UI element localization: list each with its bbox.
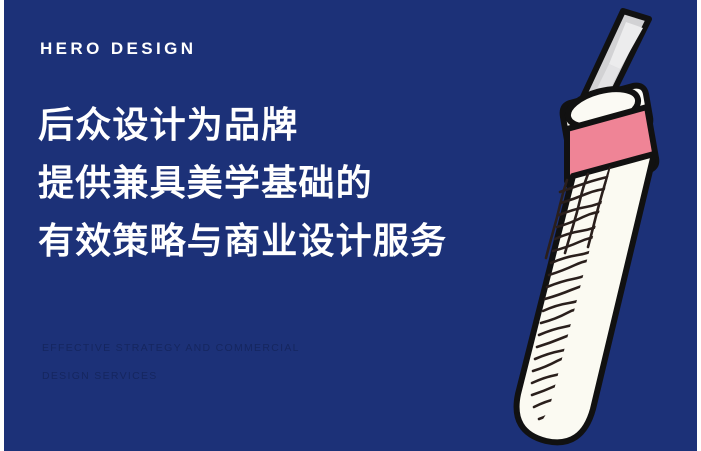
brand-wordmark: HERO DESIGN: [40, 40, 196, 57]
poster-canvas: HERO DESIGN 后众设计为品牌 提供兼具美学基础的 有效策略与商业设计服…: [0, 0, 701, 451]
craft-knife-illustration: [440, 0, 701, 451]
subtitle-line-2: DESIGN SERVICES: [42, 362, 300, 390]
subtitle-block: EFFECTIVE STRATEGY AND COMMERCIAL DESIGN…: [42, 334, 300, 390]
subtitle-line-1: EFFECTIVE STRATEGY AND COMMERCIAL: [42, 334, 300, 362]
knife-body: [517, 154, 654, 442]
